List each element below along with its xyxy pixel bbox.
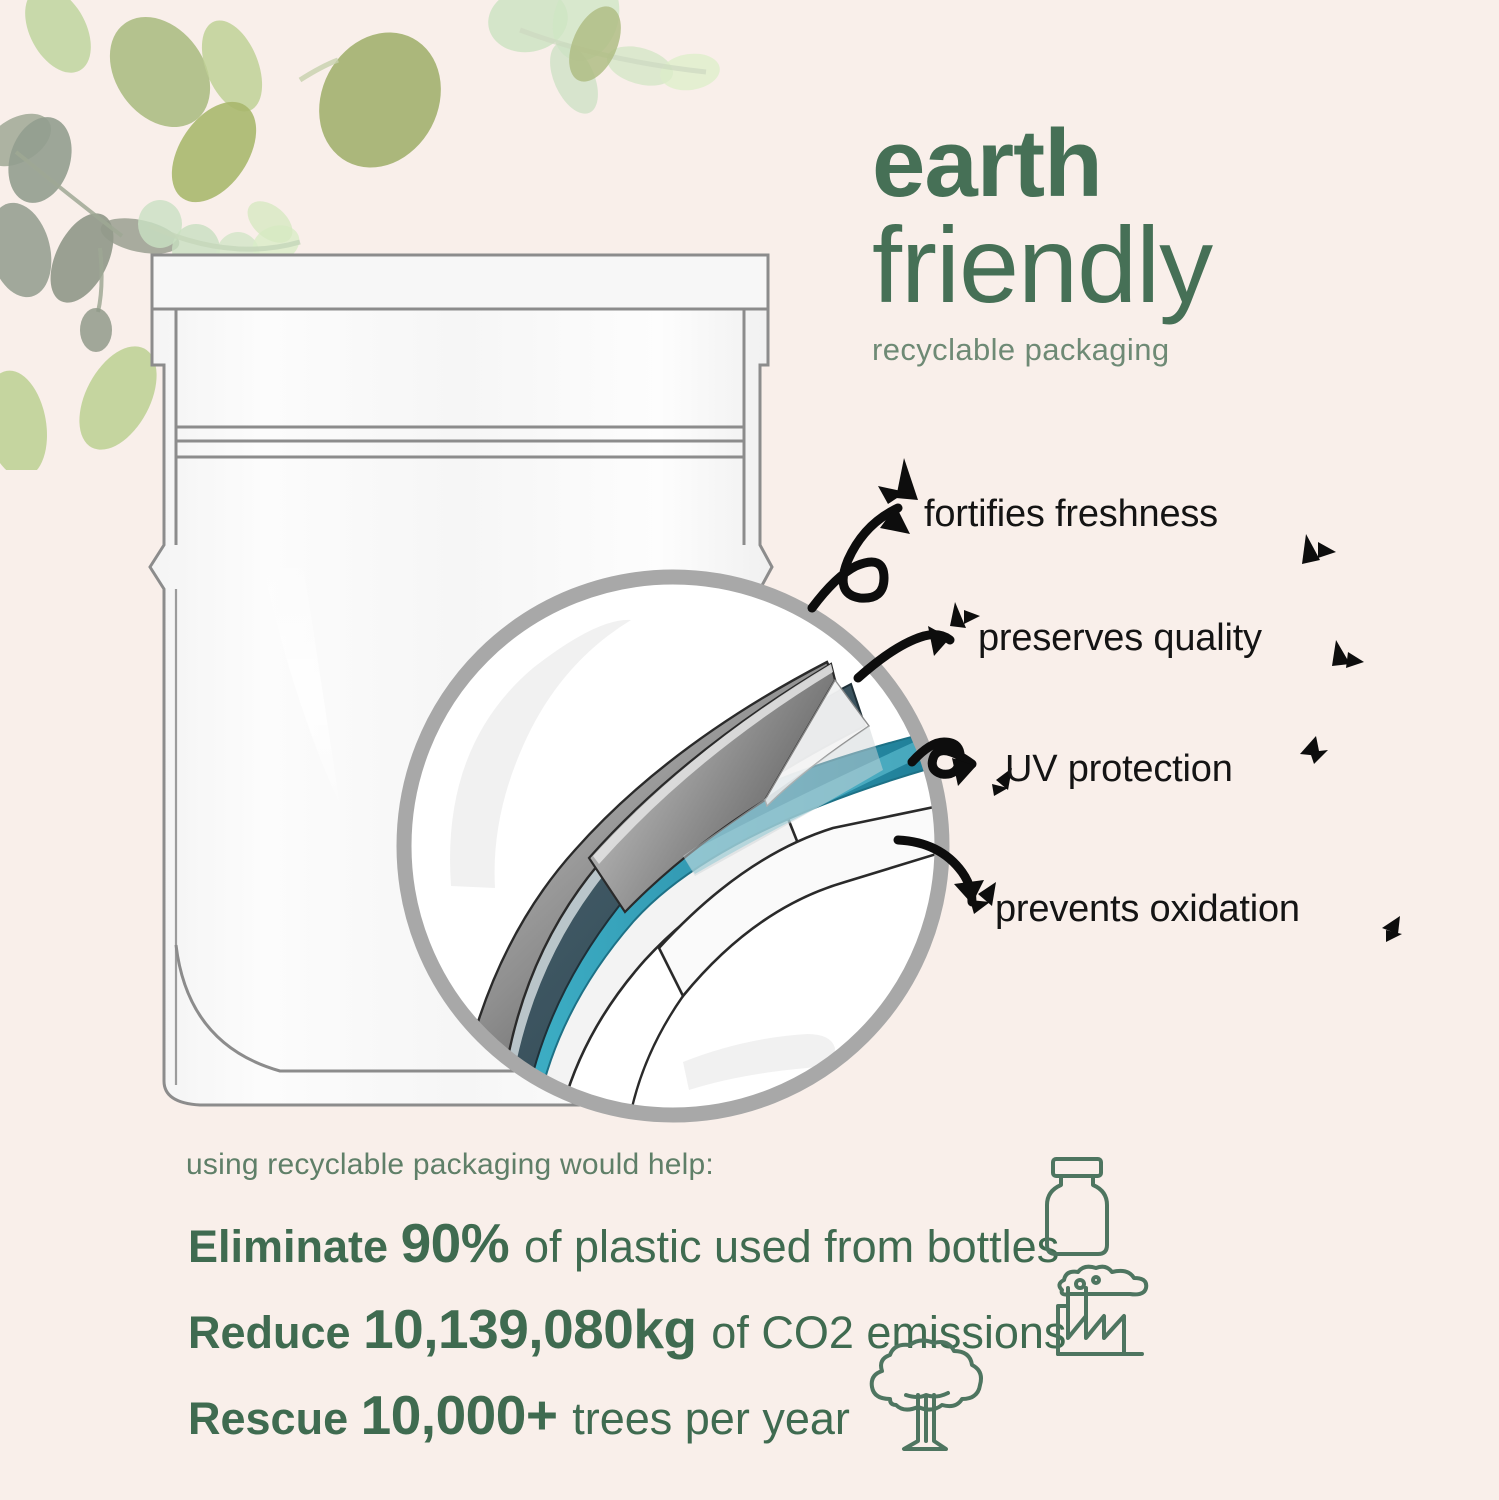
headline-line-2: friendly [872,212,1472,318]
feature-label-fortifies-freshness: fortifies freshness [924,493,1218,536]
pouch-top-seal [152,255,768,309]
infographic-canvas: earth friendly recyclable packaging fort… [0,0,1499,1500]
feature-label-uv-protection: UV protection [1005,748,1233,791]
stats-intro-text: using recyclable packaging would help: [186,1148,714,1182]
stat-number: 10,000+ [361,1384,573,1446]
feature-label-preserves-quality: preserves quality [978,617,1262,660]
headline-subtitle: recyclable packaging [872,332,1472,368]
magnifier-cross-section [383,556,963,1136]
tree-icon [860,1337,990,1462]
stat-lead: Reduce [188,1307,363,1358]
stat-number: 10,139,080kg [363,1298,711,1360]
headline-block: earth friendly recyclable packaging [872,118,1472,368]
bottle-icon [1037,1155,1117,1260]
stat-row-rescue: Rescue 10,000+ trees per year [188,1383,850,1447]
stat-number: 90% [401,1212,524,1274]
feature-label-prevents-oxidation: prevents oxidation [995,888,1300,931]
stat-lead: Eliminate [188,1221,401,1272]
stat-lead: Rescue [188,1393,361,1444]
stat-row-eliminate: Eliminate 90% of plastic used from bottl… [188,1211,1059,1275]
stat-tail: trees per year [572,1393,850,1444]
stat-tail: of plastic used from bottles [524,1221,1059,1272]
factory-smoke-icon [1052,1264,1162,1359]
headline-line-1: earth [872,118,1472,210]
